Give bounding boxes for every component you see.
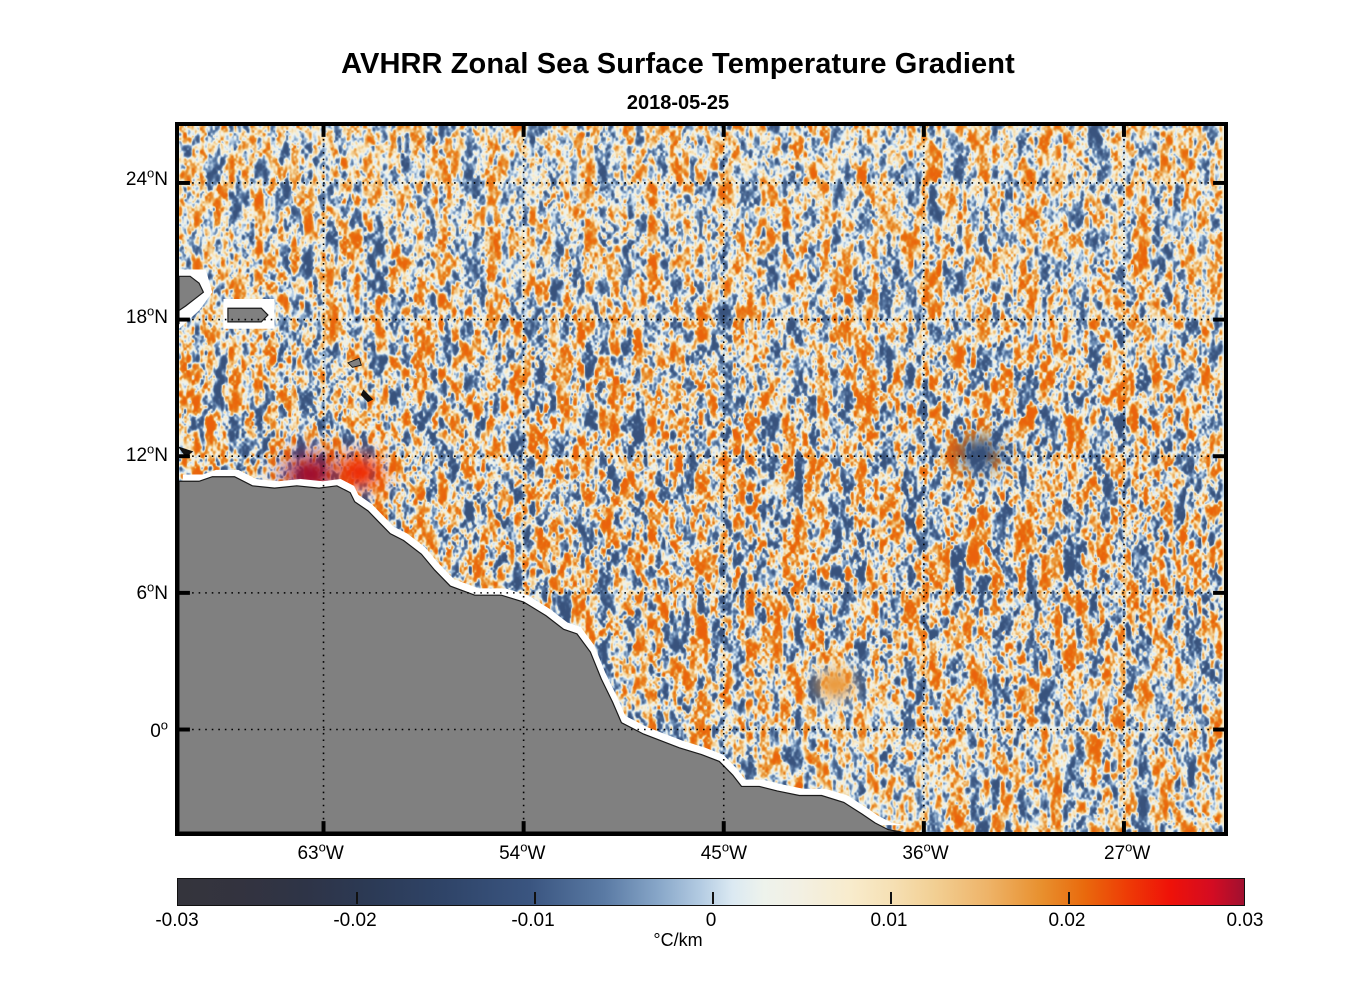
colorbar-tick-label: -0.02: [285, 910, 425, 932]
x-tick-label: 54oW: [462, 843, 582, 865]
colorbar-tick-label: 0: [641, 910, 781, 932]
graticule-grid: [179, 126, 1224, 832]
x-tick-label: 63oW: [261, 843, 381, 865]
colorbar-gradient: [177, 878, 1245, 906]
colorbar-tick: [356, 892, 358, 904]
y-tick-label: 12oN: [98, 446, 168, 465]
colorbar-tick: [712, 892, 714, 904]
figure-canvas: AVHRR Zonal Sea Surface Temperature Grad…: [0, 0, 1356, 1000]
y-tick-label: 18oN: [98, 308, 168, 327]
colorbar-tick: [890, 892, 892, 904]
colorbar-tick-label: -0.03: [107, 910, 247, 932]
colorbar-tick-label: 0.03: [1175, 910, 1315, 932]
page-title: AVHRR Zonal Sea Surface Temperature Grad…: [0, 48, 1356, 81]
colorbar-tick-label: 0.01: [819, 910, 959, 932]
colorbar-tick-label: -0.01: [463, 910, 603, 932]
y-tick-label: 24oN: [98, 170, 168, 189]
x-tick-label: 27oW: [1067, 843, 1187, 865]
x-tick-label: 45oW: [664, 843, 784, 865]
figure-subtitle: 2018-05-25: [0, 92, 1356, 115]
x-axis-tick-labels: 63oW54oW45oW36oW27oW: [175, 843, 1228, 873]
y-axis-tick-labels: 24oN18oN12oN6oN0o: [90, 122, 168, 836]
map-plot-area[interactable]: [175, 122, 1228, 836]
colorbar-tick: [1068, 892, 1070, 904]
colorbar[interactable]: [177, 878, 1245, 906]
x-tick-label: 36oW: [866, 843, 986, 865]
y-tick-label: 6oN: [98, 584, 168, 603]
colorbar-tick: [534, 892, 536, 904]
colorbar-unit-label: °C/km: [0, 930, 1356, 951]
colorbar-tick-label: 0.02: [997, 910, 1137, 932]
y-tick-label: 0o: [98, 722, 168, 741]
